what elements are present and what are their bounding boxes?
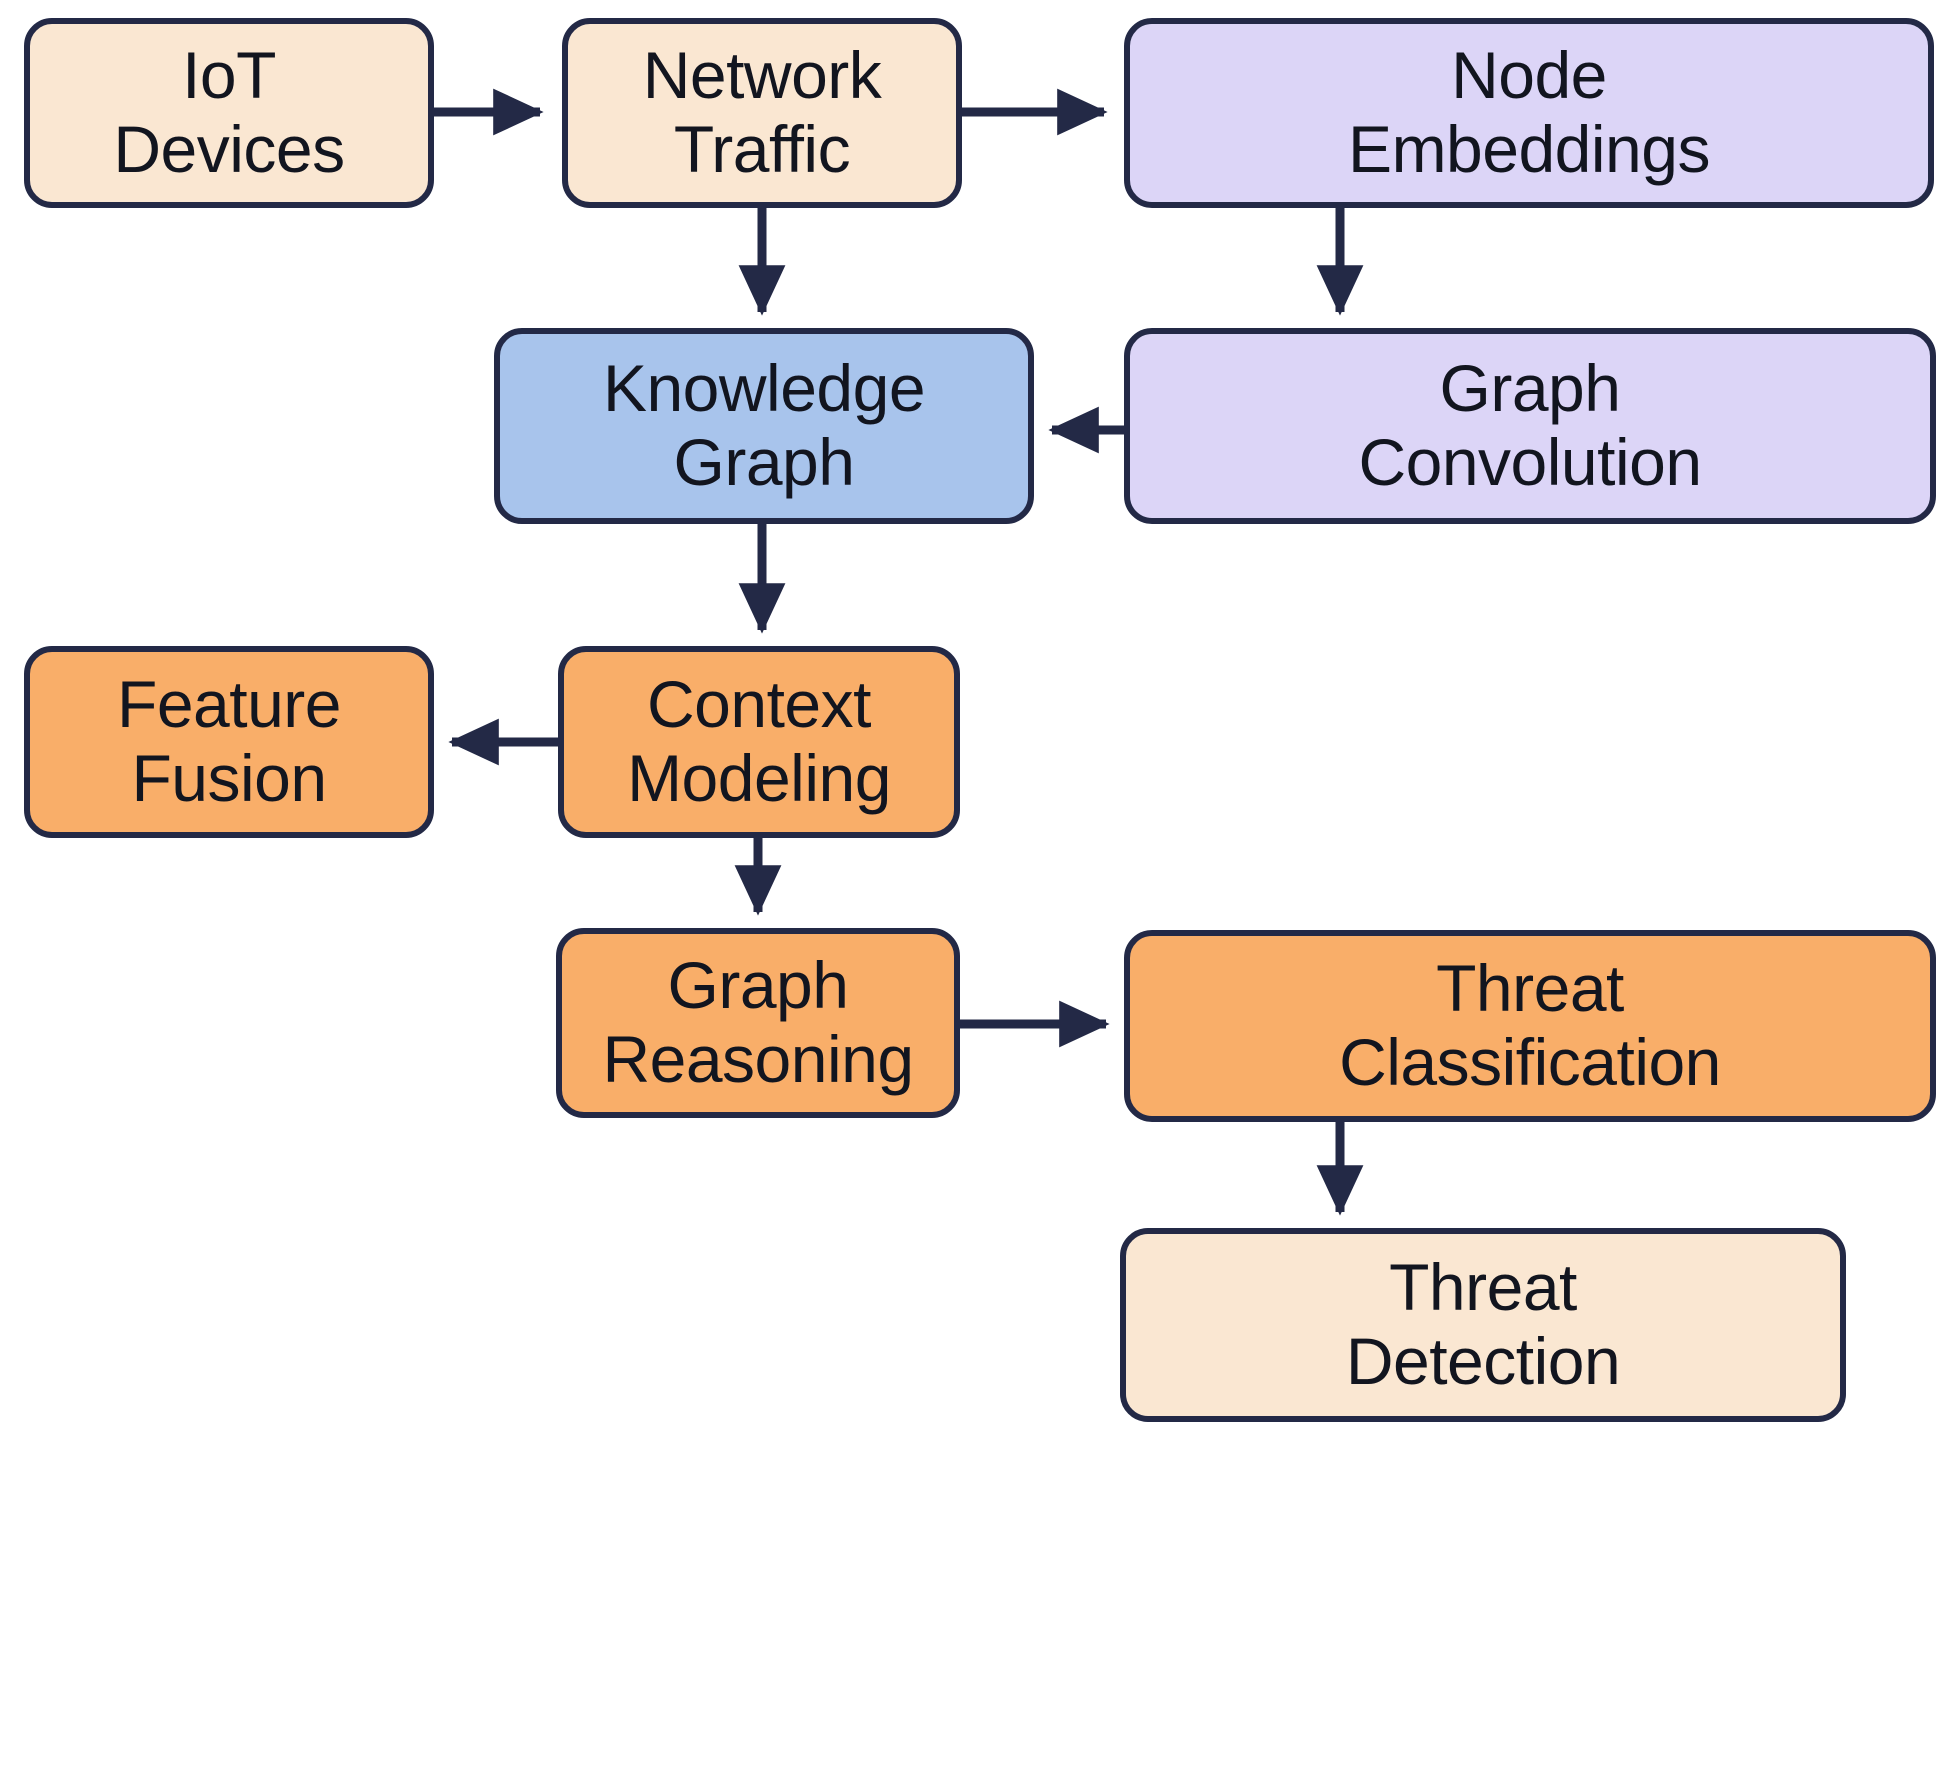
node-threat_classification[interactable]: Threat Classification xyxy=(1124,930,1936,1122)
flowchart-canvas: IoT DevicesNetwork TrafficNode Embedding… xyxy=(0,0,1941,1767)
edge-layer xyxy=(0,0,1941,1767)
node-node_embeddings[interactable]: Node Embeddings xyxy=(1124,18,1934,208)
node-feature_fusion[interactable]: Feature Fusion xyxy=(24,646,434,838)
node-knowledge_graph[interactable]: Knowledge Graph xyxy=(494,328,1034,524)
node-network_traffic[interactable]: Network Traffic xyxy=(562,18,962,208)
node-threat_detection[interactable]: Threat Detection xyxy=(1120,1228,1846,1422)
node-context_modeling[interactable]: Context Modeling xyxy=(558,646,960,838)
node-graph_reasoning[interactable]: Graph Reasoning xyxy=(556,928,960,1118)
node-iot_devices[interactable]: IoT Devices xyxy=(24,18,434,208)
node-graph_convolution[interactable]: Graph Convolution xyxy=(1124,328,1936,524)
